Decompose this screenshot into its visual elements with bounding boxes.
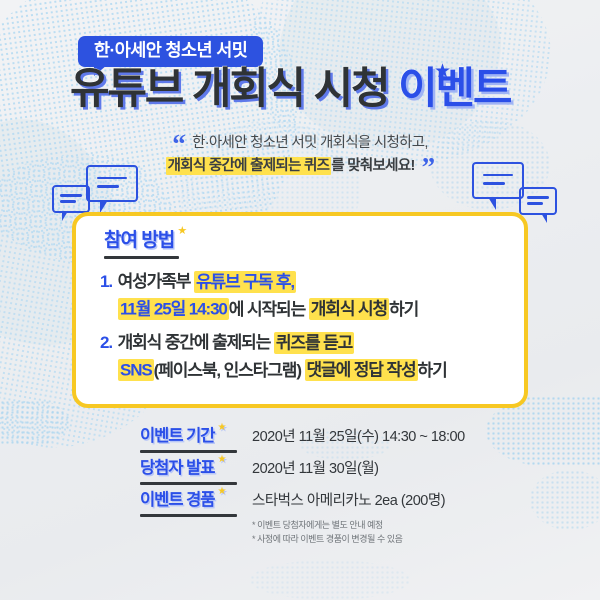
step-highlight-blue: 11월 25일 14:30 xyxy=(118,298,229,320)
event-detail-label-box: 이벤트 기간★ xyxy=(140,428,252,446)
event-detail-row: 당첨자 발표★2020년 11월 30일(월) xyxy=(0,460,600,478)
quote-line-1-text: 한·아세안 청소년 서밋 개회식을 시청하고, xyxy=(192,135,428,151)
label-underline xyxy=(140,482,237,485)
quote-line-2: 개회식 중간에 출제되는 퀴즈를 맞춰보세요!” xyxy=(0,155,600,178)
event-detail-note: * 사정에 따라 이벤트 경품이 변경될 수 있음 xyxy=(252,533,445,547)
halftone-dots-bottom xyxy=(250,560,410,600)
star-icon: ★ xyxy=(434,62,451,81)
bubble-tail xyxy=(541,213,547,223)
event-detail-label-box: 이벤트 경품★ xyxy=(140,492,252,510)
bubble-line xyxy=(97,185,119,187)
star-icon: ★ xyxy=(218,455,226,465)
quote-line-2-tail: 를 맞춰보세요! xyxy=(331,158,414,174)
step-text: 에 시작되는 xyxy=(229,300,309,319)
step-line: 11월 25일 14:30에 시작되는 개회식 시청하기 xyxy=(100,296,510,324)
step-text: 하기 xyxy=(418,361,447,380)
event-detail-notes: * 이벤트 당첨자에게는 별도 안내 예정* 사정에 따라 이벤트 경품이 변경… xyxy=(252,519,445,547)
event-detail-value: 2020년 11월 30일(월) xyxy=(252,460,379,478)
event-detail-label-box: 당첨자 발표★ xyxy=(140,460,252,478)
event-detail-value-group: 스타벅스 아메리카노 2ea (200명)* 이벤트 당첨자에게는 별도 안내 … xyxy=(252,492,445,547)
event-details: 이벤트 기간★2020년 11월 25일(수) 14:30 ~ 18:00당첨자… xyxy=(0,428,600,561)
quote-line-1: “한·아세안 청소년 서밋 개회식을 시청하고, xyxy=(0,132,600,155)
star-icon: ★ xyxy=(218,487,226,497)
step-highlight: 개회식 시청 xyxy=(309,298,389,320)
page-title-primary: 유튜브 개회식 시청 xyxy=(70,65,398,113)
speech-bubble-icon-right-small xyxy=(519,187,557,215)
step-highlight: 퀴즈를 듣고 xyxy=(274,332,354,354)
event-detail-row: 이벤트 경품★스타벅스 아메리카노 2ea (200명)* 이벤트 당첨자에게는… xyxy=(0,492,600,547)
star-icon: ★ xyxy=(218,423,226,433)
title-underline xyxy=(104,256,179,259)
step-number: 1. xyxy=(100,272,112,291)
quote-close-icon: ” xyxy=(422,152,435,182)
step-number: 2. xyxy=(100,333,112,352)
page-title-accent: 이벤트 xyxy=(398,65,510,113)
participation-step: 2. 개회식 중간에 출제되는 퀴즈를 듣고SNS(페이스북, 인스타그램) 댓… xyxy=(100,329,510,384)
step-text: 여성가족부 xyxy=(114,272,194,291)
quote-highlight: 개회식 중간에 출제되는 퀴즈 xyxy=(166,157,332,175)
event-poster: 한·아세안 청소년 서밋 유튜브 개회식 시청 이벤트 ★ “한·아세안 청소년… xyxy=(0,0,600,600)
bubble-tail xyxy=(488,197,496,210)
event-detail-value: 스타벅스 아메리카노 2ea (200명) xyxy=(252,492,445,510)
step-line: 2. 개회식 중간에 출제되는 퀴즈를 듣고 xyxy=(100,329,510,357)
participation-card-title: 참여 방법 ★ xyxy=(104,231,174,251)
step-highlight-blue: SNS xyxy=(118,359,154,381)
event-detail-value: 2020년 11월 25일(수) 14:30 ~ 18:00 xyxy=(252,428,465,446)
step-text: 하기 xyxy=(389,300,418,319)
event-detail-label: 이벤트 경품★ xyxy=(140,492,214,509)
speech-bubble-icon-left-small xyxy=(52,185,90,213)
bubble-line xyxy=(527,202,543,204)
step-text: 개회식 중간에 출제되는 xyxy=(114,333,274,352)
bubble-line xyxy=(527,196,549,198)
participation-card-title-label: 참여 방법 xyxy=(104,231,174,250)
bubble-line xyxy=(60,200,76,202)
event-detail-row: 이벤트 기간★2020년 11월 25일(수) 14:30 ~ 18:00 xyxy=(0,428,600,446)
quote-block: “한·아세안 청소년 서밋 개회식을 시청하고, 개회식 중간에 출제되는 퀴즈… xyxy=(0,132,600,179)
bubble-tail xyxy=(62,211,68,221)
event-detail-value-group: 2020년 11월 25일(수) 14:30 ~ 18:00 xyxy=(252,428,465,446)
event-badge-label: 한·아세안 청소년 서밋 xyxy=(78,36,263,67)
label-underline xyxy=(140,450,237,453)
event-detail-label: 이벤트 기간★ xyxy=(140,428,214,445)
step-line: SNS(페이스북, 인스타그램) 댓글에 정답 작성하기 xyxy=(100,357,510,385)
step-highlight: 댓글에 정답 작성 xyxy=(305,359,418,381)
event-badge: 한·아세안 청소년 서밋 xyxy=(78,36,263,67)
participation-card: 참여 방법 ★ 1. 여성가족부 유튜브 구독 후,11월 25일 14:30에… xyxy=(72,212,528,408)
event-detail-value-group: 2020년 11월 30일(월) xyxy=(252,460,379,478)
event-detail-label: 당첨자 발표★ xyxy=(140,460,214,477)
event-detail-note: * 이벤트 당첨자에게는 별도 안내 예정 xyxy=(252,519,445,533)
bubble-line xyxy=(60,194,82,196)
participation-step: 1. 여성가족부 유튜브 구독 후,11월 25일 14:30에 시작되는 개회… xyxy=(100,268,510,323)
star-icon: ★ xyxy=(177,226,187,237)
step-line: 1. 여성가족부 유튜브 구독 후, xyxy=(100,268,510,296)
step-text: (페이스북, 인스타그램) xyxy=(154,361,305,380)
bubble-line xyxy=(483,182,505,184)
participation-steps: 1. 여성가족부 유튜브 구독 후,11월 25일 14:30에 시작되는 개회… xyxy=(100,268,510,390)
step-highlight-blue: 유튜브 구독 후, xyxy=(194,271,296,293)
label-underline xyxy=(140,514,237,517)
